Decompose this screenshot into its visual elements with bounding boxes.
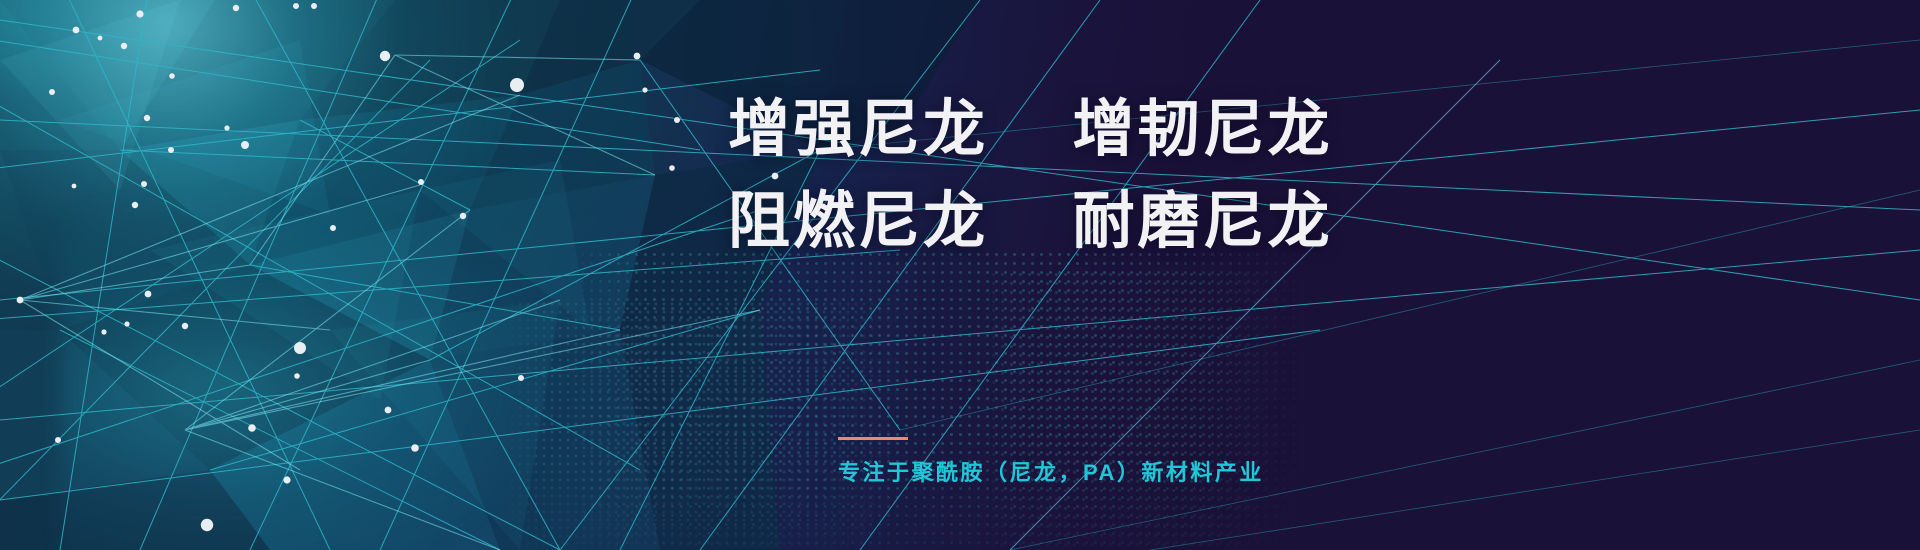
headline-line-1-part-1: 增强尼龙 (728, 95, 988, 164)
accent-rule (838, 437, 908, 440)
hero-content: 增强尼龙 增韧尼龙 阻燃尼龙 耐磨尼龙 专注于聚酰胺（尼龙，PA）新材料产业 (728, 0, 1828, 550)
headline-line-2: 阻燃尼龙 耐磨尼龙 (728, 176, 1333, 268)
subtitle-text: 专注于聚酰胺（尼龙，PA）新材料产业 (838, 455, 1264, 487)
headline-line-1: 增强尼龙 增韧尼龙 (728, 84, 1333, 176)
headline-line-1-part-2: 增韧尼龙 (1072, 95, 1332, 164)
headline-line-2-part-2: 耐磨尼龙 (1072, 187, 1332, 256)
headline-line-2-part-1: 阻燃尼龙 (728, 187, 988, 256)
hero-banner: 增强尼龙 增韧尼龙 阻燃尼龙 耐磨尼龙 专注于聚酰胺（尼龙，PA）新材料产业 (0, 0, 1920, 550)
